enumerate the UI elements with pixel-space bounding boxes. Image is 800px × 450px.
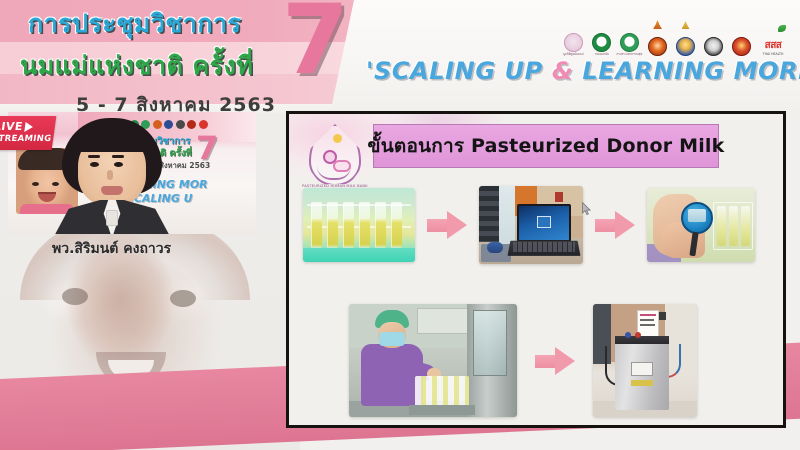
slide-heading-banner: ขั้นตอนการ Pasteurized Donor Milk: [373, 124, 719, 168]
conference-title-line1: การประชุมวิชาการ: [18, 4, 298, 44]
thaihealth-sss-logo: สสส THAI HEALTH: [758, 26, 788, 56]
slide-screenshot: การประชุมวิชาการ นมแม่แห่งชาติ ครั้งที่ …: [0, 0, 800, 450]
thai-breastfeeding-foundation-logo: มูลนิธิศูนย์นมแม่: [562, 26, 585, 56]
video-poster-number: 7: [196, 132, 218, 164]
slide-heading-text: ขั้นตอนการ Pasteurized Donor Milk: [368, 131, 725, 161]
step-laptop-monitoring: [479, 186, 583, 264]
conference-title: การประชุมวิชาการ นมแม่แห่งชาติ ครั้งที่ …: [18, 4, 298, 120]
presentation-slide-panel: PASTEURIZED HUMAN MILK BANK ขั้นตอนการ P…: [286, 111, 786, 428]
tagline-ampersand: &: [552, 57, 574, 85]
edition-number: 7: [282, 0, 349, 88]
tagline-suffix: LEARNING MORE': [573, 57, 800, 85]
process-row-top: [303, 186, 755, 264]
live-badge-label: LIVE: [0, 120, 57, 133]
arrow-right-2: [595, 210, 635, 240]
step-milk-bottle-rack: [303, 188, 415, 262]
conference-tagline: 'SCALING UP & LEARNING MORE': [366, 57, 800, 85]
step-nurse-handling-bottles: [349, 304, 517, 417]
sponsor-logo-row: มูลนิธิศูนย์นมแม่ กรมอนามัย กระทรวงสาธาร…: [562, 26, 788, 56]
conference-title-line2: นมแม่แห่งชาติ ครั้งที่: [18, 46, 298, 86]
department-health-logo: กระทรวงสาธารณสุข: [618, 26, 641, 56]
medical-council-logo: [702, 26, 725, 56]
speaker-name: พว.สิริมนต์ คงถาวร: [52, 238, 171, 260]
play-triangle-icon: [24, 122, 33, 132]
video-speaker-person: [52, 118, 172, 234]
tagline-prefix: 'SCALING UP: [366, 57, 552, 85]
ministry-public-health-logo: กรมอนามัย: [590, 26, 613, 56]
arrow-right-3: [535, 346, 575, 376]
step-pasteurizer-machine: [593, 304, 697, 417]
sss-logo-subtext: THAI HEALTH: [763, 52, 784, 56]
background-eye-right: [170, 290, 196, 307]
step-temperature-timer: [647, 188, 755, 262]
pasteurized-human-milk-droplet-logo: PASTEURIZED HUMAN MILK BANK: [303, 122, 367, 194]
mouse-cursor-icon: [582, 202, 592, 216]
arrow-right-1: [427, 210, 467, 240]
streaming-label: STREAMING: [0, 134, 59, 144]
royal-college-logo: [646, 26, 669, 56]
nursing-council-logo: [730, 26, 753, 56]
process-row-bottom: [349, 304, 697, 417]
royal-emblem-logo: [674, 26, 697, 56]
sss-logo-text: สสส: [765, 41, 782, 51]
background-eye-left: [62, 288, 88, 305]
